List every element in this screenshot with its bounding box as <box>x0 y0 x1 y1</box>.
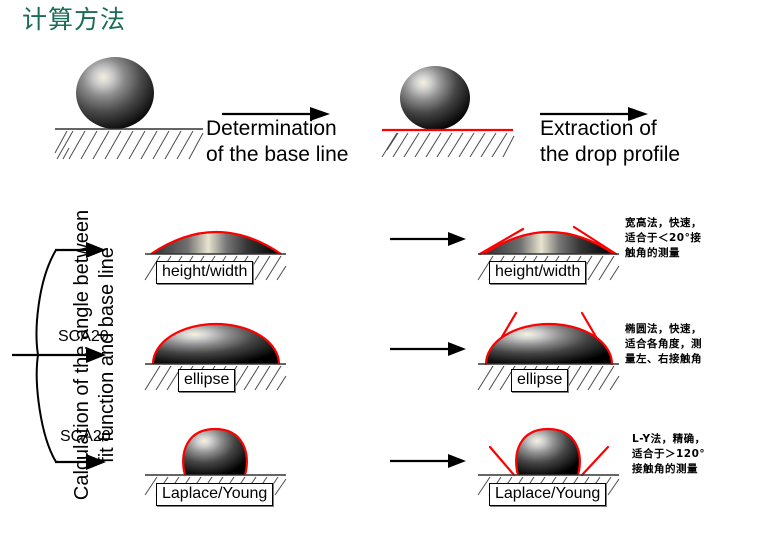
method-2-label-middle: ellipse <box>178 369 235 392</box>
step1-caption: Determination of the base line <box>206 116 348 168</box>
method-3-label-middle: Laplace/Young <box>156 483 273 506</box>
method-3-label-right: Laplace/Young <box>489 483 606 506</box>
step2-caption: Extraction of the drop profile <box>540 116 680 168</box>
top-right-drop-figure <box>382 58 517 163</box>
method-1-arrow <box>390 230 468 250</box>
method-1-note: 宽高法，快速， 适合于＜20°接 触角的测量 <box>625 216 702 261</box>
method-1-label-middle: height/width <box>156 261 253 284</box>
method-2-arrow <box>390 340 468 360</box>
method-3-note: L-Y法，精确， 适合于＞120° 接触角的测量 <box>632 432 706 477</box>
method-2-label-right: ellipse <box>511 369 568 392</box>
top-left-drop-figure <box>55 55 205 165</box>
vertical-caption: Calculation of the angle between fit fun… <box>70 190 120 520</box>
method-2-note: 椭圆法，快速， 适合各角度，测 量左、右接触角 <box>625 322 702 367</box>
method-1-label-right: height/width <box>489 261 586 284</box>
method-3-arrow <box>390 452 468 472</box>
page-title: 计算方法 <box>22 3 126 36</box>
